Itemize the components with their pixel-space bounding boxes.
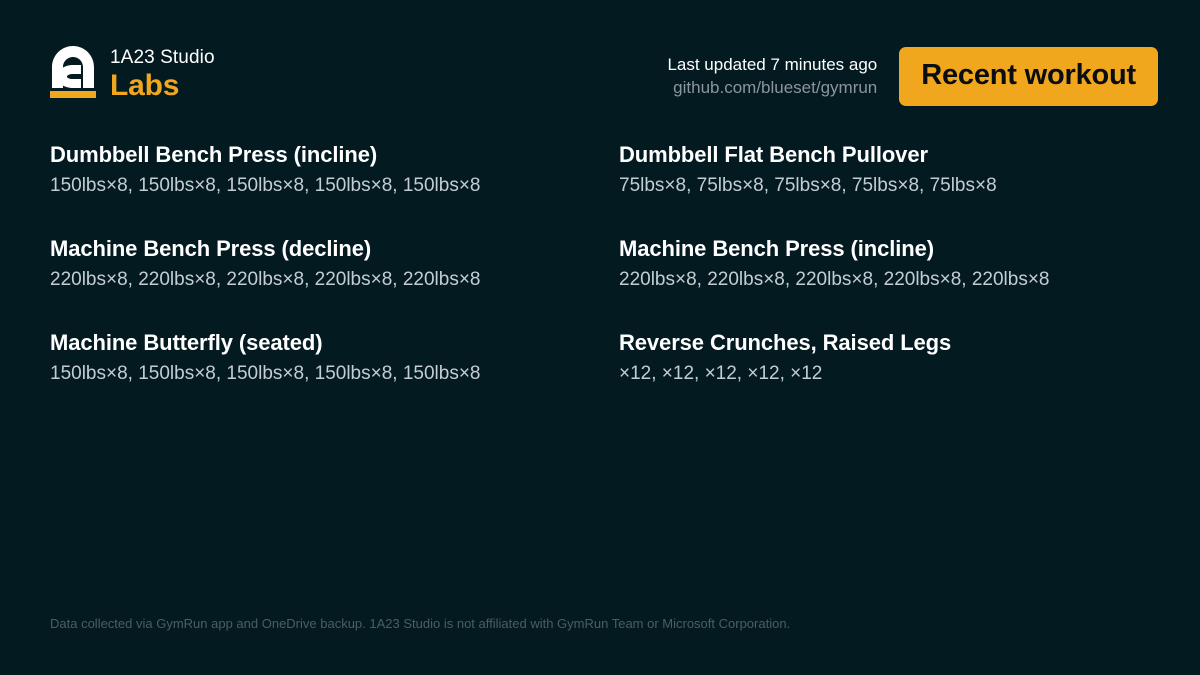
- header-right: Last updated 7 minutes ago github.com/bl…: [667, 47, 1158, 106]
- header-meta: Last updated 7 minutes ago github.com/bl…: [667, 54, 877, 99]
- exercise-item: Machine Bench Press (incline) 220lbs×8, …: [619, 234, 1150, 328]
- exercise-name: Machine Bench Press (incline): [619, 234, 1130, 264]
- exercise-item: Machine Bench Press (decline) 220lbs×8, …: [50, 234, 619, 328]
- footer-disclaimer: Data collected via GymRun app and OneDri…: [50, 615, 790, 633]
- exercise-sets: 75lbs×8, 75lbs×8, 75lbs×8, 75lbs×8, 75lb…: [619, 173, 1130, 199]
- brand-labs-name: Labs: [110, 69, 215, 103]
- exercise-sets: 220lbs×8, 220lbs×8, 220lbs×8, 220lbs×8, …: [619, 267, 1130, 293]
- recent-workout-badge[interactable]: Recent workout: [899, 47, 1158, 106]
- 1a23-a-mark-icon: [50, 44, 96, 98]
- brand-text: 1A23 Studio Labs: [110, 44, 215, 103]
- last-updated-text: Last updated 7 minutes ago: [667, 54, 877, 76]
- exercise-sets: ×12, ×12, ×12, ×12, ×12: [619, 361, 1130, 387]
- exercise-name: Machine Butterfly (seated): [50, 328, 599, 358]
- exercise-name: Dumbbell Bench Press (incline): [50, 140, 599, 170]
- header: 1A23 Studio Labs Last updated 7 minutes …: [50, 44, 1158, 104]
- logo-accent-bar: [50, 91, 96, 98]
- exercise-sets: 150lbs×8, 150lbs×8, 150lbs×8, 150lbs×8, …: [50, 361, 599, 387]
- brand-lockup: 1A23 Studio Labs: [50, 44, 215, 103]
- exercise-item: Reverse Crunches, Raised Legs ×12, ×12, …: [619, 328, 1150, 422]
- exercise-item: Dumbbell Bench Press (incline) 150lbs×8,…: [50, 140, 619, 234]
- exercise-name: Reverse Crunches, Raised Legs: [619, 328, 1130, 358]
- exercise-item: Dumbbell Flat Bench Pullover 75lbs×8, 75…: [619, 140, 1150, 234]
- exercise-sets: 220lbs×8, 220lbs×8, 220lbs×8, 220lbs×8, …: [50, 267, 599, 293]
- exercise-name: Dumbbell Flat Bench Pullover: [619, 140, 1130, 170]
- source-url-text[interactable]: github.com/blueset/gymrun: [667, 77, 877, 99]
- brand-studio-name: 1A23 Studio: [110, 46, 215, 70]
- exercise-sets: 150lbs×8, 150lbs×8, 150lbs×8, 150lbs×8, …: [50, 173, 599, 199]
- workout-summary-card: 1A23 Studio Labs Last updated 7 minutes …: [0, 0, 1200, 675]
- exercise-grid: Dumbbell Bench Press (incline) 150lbs×8,…: [50, 140, 1150, 422]
- exercise-name: Machine Bench Press (decline): [50, 234, 599, 264]
- exercise-item: Machine Butterfly (seated) 150lbs×8, 150…: [50, 328, 619, 422]
